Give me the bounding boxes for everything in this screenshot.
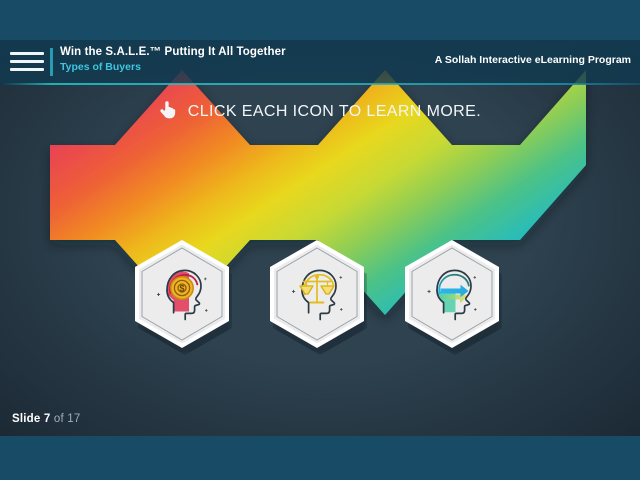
- hexagon-button-3[interactable]: [405, 240, 499, 348]
- course-title: Win the S.A.L.E.™ Putting It All Togethe…: [60, 46, 286, 58]
- hexagon-button-1[interactable]: $: [135, 240, 229, 348]
- presentation-window: Win the S.A.L.E.™ Putting It All Togethe…: [0, 0, 640, 480]
- instruction-text: CLICK EACH ICON TO LEARN MORE.: [188, 103, 481, 120]
- head-with-arrow-icon: [416, 262, 488, 326]
- header-divider-rule: [0, 83, 640, 85]
- head-with-coin-target-icon: $: [146, 262, 218, 326]
- hexagon-button-2[interactable]: [270, 240, 364, 348]
- head-with-balance-scales-icon: [281, 262, 353, 326]
- slide-canvas: Win the S.A.L.E.™ Putting It All Togethe…: [0, 40, 640, 436]
- menu-bar-2: [10, 60, 44, 63]
- menu-bar-3: [10, 68, 44, 71]
- svg-text:$: $: [179, 283, 184, 293]
- slide-counter-current: Slide 7: [12, 413, 50, 425]
- menu-bar-1: [10, 52, 44, 55]
- pointing-hand-icon: [159, 100, 176, 124]
- instruction-line: CLICK EACH ICON TO LEARN MORE.: [0, 100, 640, 124]
- hamburger-menu-icon[interactable]: [10, 51, 44, 73]
- lesson-subtitle: Types of Buyers: [60, 61, 141, 73]
- program-credit-label: A Sollah Interactive eLearning Program: [435, 54, 631, 66]
- slide-counter-total: of 17: [54, 413, 81, 425]
- slide-counter: Slide 7 of 17: [12, 413, 80, 425]
- header-vertical-divider: [50, 48, 53, 76]
